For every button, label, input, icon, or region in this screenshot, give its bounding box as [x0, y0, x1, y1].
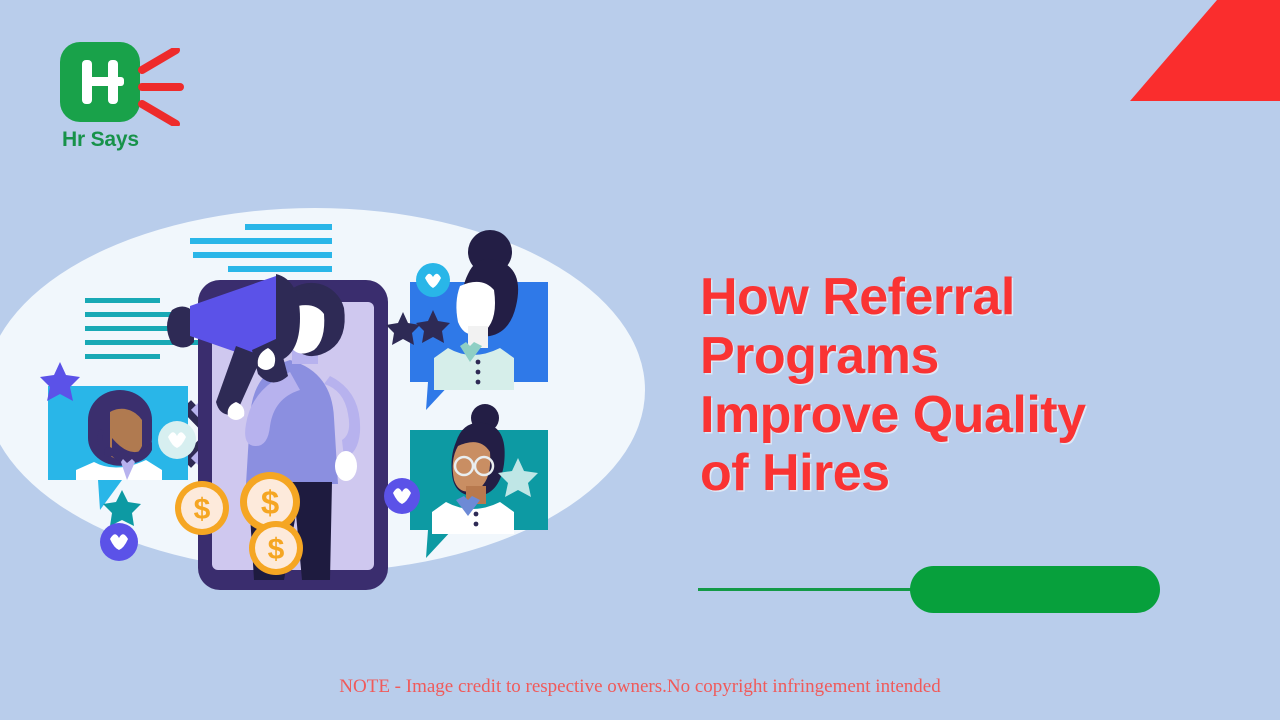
logo-h-icon: [60, 42, 140, 122]
headline-line-3: Improve Quality: [700, 386, 1220, 445]
heart-badge-icon-cyan: [416, 263, 450, 297]
referral-program-illustration: $ $ $: [0, 190, 680, 630]
red-trapezoid-decor: [1130, 0, 1280, 101]
heart-badge-icon-violet: [384, 478, 420, 514]
poster-canvas: Hr Says: [0, 0, 1280, 720]
logo-sound-rays-icon: [138, 48, 218, 126]
svg-text:$: $: [194, 493, 211, 526]
accent-bar: [698, 566, 1168, 614]
coin-dollar-icon-3: $: [249, 521, 303, 575]
brand-logo[interactable]: Hr Says: [60, 42, 250, 172]
headline-line-1: How Referral: [700, 268, 1220, 327]
copyright-note: NOTE - Image credit to respective owners…: [0, 676, 1280, 698]
accent-rule-line: [698, 588, 928, 591]
page-title: How Referral Programs Improve Quality of…: [700, 268, 1220, 503]
heart-badge-icon-purple: [100, 523, 138, 561]
svg-text:$: $: [268, 533, 285, 566]
svg-text:$: $: [261, 484, 279, 521]
headline-line-2: Programs: [700, 327, 1220, 386]
heart-badge-icon-mint: [158, 421, 196, 459]
brand-name: Hr Says: [62, 128, 139, 152]
headline-line-4: of Hires: [700, 444, 1220, 503]
coin-dollar-icon-1: $: [175, 481, 229, 535]
accent-pill-button[interactable]: [910, 566, 1160, 613]
